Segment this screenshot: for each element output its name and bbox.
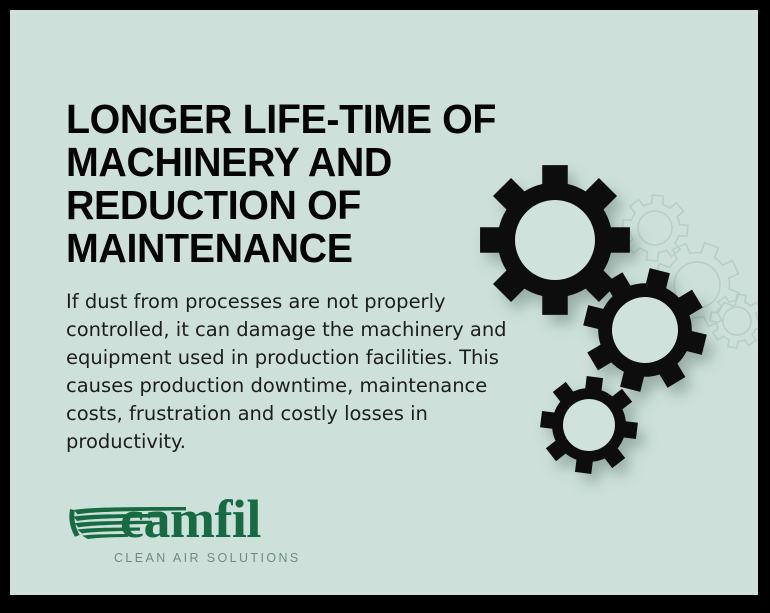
gear-small	[535, 371, 643, 479]
page-title: LONGER LIFE-TIME OF MACHINERY AND REDUCT…	[66, 98, 517, 270]
poster-frame: LONGER LIFE-TIME OF MACHINERY AND REDUCT…	[0, 0, 770, 613]
poster-canvas: LONGER LIFE-TIME OF MACHINERY AND REDUCT…	[10, 10, 758, 595]
gear-outline-middle	[643, 231, 752, 340]
gear-outline-small	[706, 290, 758, 352]
logo-wordmark: camfil	[120, 490, 261, 548]
logo-mark-row: camfil	[68, 494, 318, 552]
body-paragraph: If dust from processes are not properly …	[66, 270, 526, 456]
outline-gear-group	[620, 193, 758, 352]
gear-outline-top	[620, 193, 690, 263]
logo-tagline: CLEAN AIR SOLUTIONS	[114, 551, 301, 565]
text-column: LONGER LIFE-TIME OF MACHINERY AND REDUCT…	[66, 98, 536, 456]
gear-medium	[571, 256, 719, 404]
camfil-logo: camfil CLEAN AIR SOLUTIONS	[68, 494, 318, 552]
